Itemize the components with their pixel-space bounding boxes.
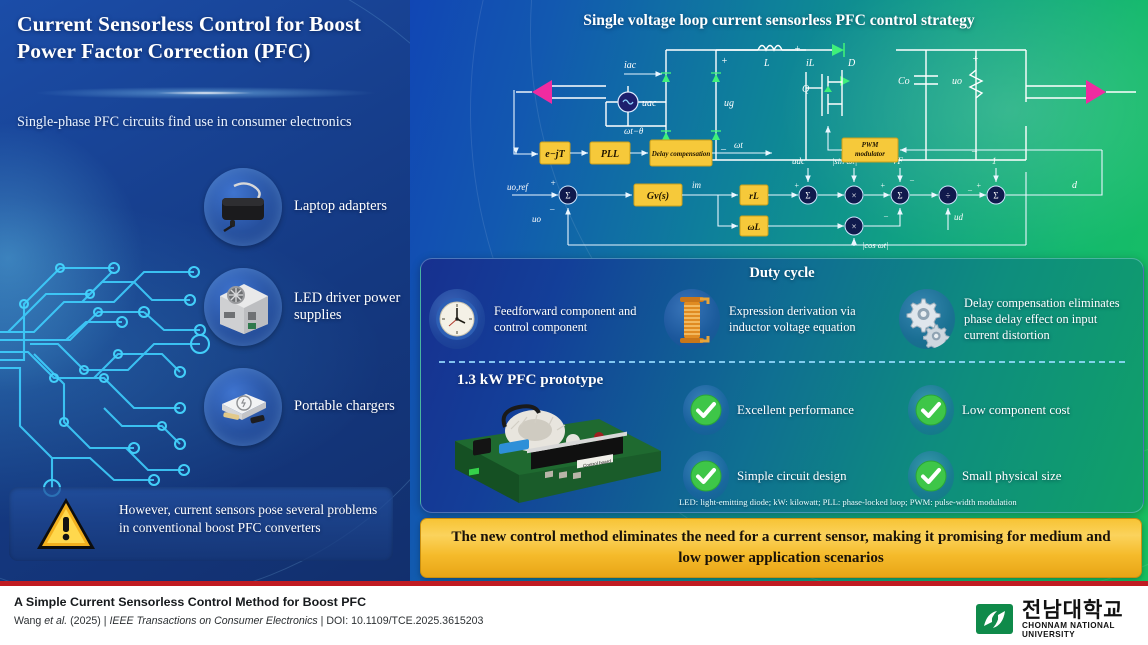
list-item-label: Laptop adapters — [294, 198, 387, 216]
citation-line: Wang et al. (2025) | IEEE Transactions o… — [14, 615, 483, 627]
footer: A Simple Current Sensorless Control Meth… — [0, 586, 1148, 645]
citation-year: (2025) — [70, 615, 101, 627]
citation-sep: | — [321, 615, 324, 627]
svg-text:–: – — [971, 146, 978, 157]
label-uo-out: uo — [952, 76, 962, 87]
label-ud: ud — [954, 212, 964, 222]
university-name-english: CHONNAM NATIONAL UNIVERSITY — [1022, 621, 1148, 639]
conclusion-text: The new control method eliminates the ne… — [443, 527, 1119, 568]
svg-text:+: + — [976, 181, 981, 190]
svg-text:PWM: PWM — [862, 141, 880, 149]
svg-text:–: – — [909, 175, 915, 184]
graphical-abstract: Current Sensorless Control for Boost Pow… — [0, 0, 1148, 645]
list-item: Excellent performance — [683, 377, 908, 443]
circuit-trace-artwork — [0, 212, 224, 502]
label-uac: uac — [642, 98, 657, 109]
block-rl-label: rL — [749, 192, 759, 202]
multiplier-1: × — [851, 191, 856, 201]
inductor-coil-icon — [664, 289, 720, 349]
check-icon — [908, 385, 954, 435]
university-name-korean: 전남대학교 — [1022, 599, 1148, 621]
duty-cycle-items: Feedforward component and control compon… — [429, 289, 1135, 349]
svg-text:+: + — [880, 181, 885, 190]
block-wl-label: ωL — [748, 223, 761, 233]
applications-list: Laptop adapters — [204, 168, 404, 468]
check-icon — [683, 385, 729, 435]
label-Q: Q — [802, 84, 810, 95]
label-L: L — [763, 58, 770, 69]
prototype-title: 1.3 kW PFC prototype — [457, 371, 603, 389]
pfc-control-diagram: iac uac L iL ug Q D Co uo +– +– + — [506, 30, 1146, 255]
svg-text:–: – — [549, 204, 555, 214]
list-item-label: Portable chargers — [294, 398, 395, 416]
list-item: Feedforward component and control compon… — [429, 289, 664, 349]
label-one: 1 — [992, 156, 997, 166]
sum-junction-3: Σ — [897, 191, 902, 201]
pfc-prototype-board-photo: Control board — [449, 397, 664, 505]
diagram-title: Single voltage loop current sensorless P… — [410, 12, 1148, 30]
led-driver-power-supply-icon — [204, 268, 282, 346]
label-iac: iac — [624, 60, 637, 71]
citation-doi[interactable]: DOI: 10.1109/TCE.2025.3615203 — [326, 615, 483, 627]
svg-text:–: – — [883, 211, 889, 220]
label-uo-fb: uo — [532, 214, 542, 224]
svg-text:+: + — [721, 56, 728, 67]
label-uoref: uo,ref — [507, 182, 529, 192]
list-item-label: Simple circuit design — [737, 469, 847, 484]
label-wt-theta: ωt−θ — [624, 126, 644, 136]
list-item: LED driver power supplies — [204, 268, 404, 346]
svg-text:+: + — [794, 44, 801, 55]
block-pll-label: PLL — [601, 149, 619, 160]
laptop-adapter-icon — [204, 168, 282, 246]
check-icon — [908, 451, 954, 501]
duty-cycle-card: Duty cycle — [420, 258, 1144, 513]
list-item-label: Expression derivation via inductor volta… — [729, 303, 899, 335]
title-glow-divider — [10, 86, 400, 100]
left-subtitle: Single-phase PFC circuits find use in co… — [17, 113, 382, 132]
university-logo: 전남대학교 CHONNAM NATIONAL UNIVERSITY — [975, 599, 1148, 639]
paper-title: A Simple Current Sensorless Control Meth… — [14, 595, 366, 609]
list-item-label: Feedforward component and control compon… — [494, 303, 664, 335]
block-delay-label: Delay compensation — [651, 150, 711, 158]
divider-node: ÷ — [946, 191, 951, 201]
warning-text: However, current sensors pose several pr… — [119, 501, 387, 536]
portable-charger-icon — [204, 368, 282, 446]
svg-text:+: + — [550, 178, 556, 188]
benefits-grid: Excellent performance Low component cost — [683, 377, 1133, 509]
citation-etal: et al. — [44, 615, 67, 627]
label-iL: iL — [806, 58, 815, 69]
gears-icon — [899, 289, 955, 349]
benefits-row: Excellent performance Low component cost — [683, 377, 1133, 443]
multiplier-2: × — [851, 222, 856, 232]
list-item: Low component cost — [908, 377, 1133, 443]
citation-authors: Wang — [14, 615, 41, 627]
list-item-label: Low component cost — [962, 403, 1070, 418]
check-icon — [683, 451, 729, 501]
label-D: D — [847, 58, 856, 69]
left-panel: Current Sensorless Control for Boost Pow… — [0, 0, 410, 586]
svg-text:modulator: modulator — [855, 150, 885, 158]
warning-box: However, current sensors pose several pr… — [9, 487, 393, 561]
block-gv-label: Gv(s) — [647, 191, 669, 202]
conclusion-banner: The new control method eliminates the ne… — [420, 518, 1142, 578]
list-item: Delay compensation eliminates phase dela… — [899, 289, 1134, 349]
sum-junction-2: Σ — [805, 191, 810, 201]
sum-junction-1: Σ — [565, 191, 570, 201]
abbreviations-note: LED: light-emitting diode; kW: kilowatt;… — [679, 497, 1141, 507]
list-item-label: Delay compensation eliminates phase dela… — [964, 295, 1134, 343]
page-title: Current Sensorless Control for Boost Pow… — [17, 11, 397, 65]
label-Co: Co — [898, 76, 910, 87]
label-cos: |cos ωt| — [862, 240, 889, 250]
list-item: Expression derivation via inductor volta… — [664, 289, 899, 349]
list-item-label: Small physical size — [962, 469, 1062, 484]
right-panel: Single voltage loop current sensorless P… — [410, 0, 1148, 586]
citation-sep: | — [104, 615, 107, 627]
warning-triangle-icon — [35, 495, 97, 558]
svg-text:+: + — [794, 181, 799, 190]
clock-icon — [429, 289, 485, 349]
citation-journal: IEEE Transactions on Consumer Electronic… — [109, 615, 317, 627]
label-d: d — [1072, 180, 1078, 191]
list-item-label: LED driver power supplies — [294, 290, 404, 325]
list-item-label: Excellent performance — [737, 403, 854, 418]
list-item: Laptop adapters — [204, 168, 404, 246]
list-item: Portable chargers — [204, 368, 404, 446]
block-exp-label: e−jT — [545, 149, 565, 160]
label-udc: udc — [792, 156, 805, 166]
label-wt: ωt — [734, 140, 743, 150]
poster-body: Current Sensorless Control for Boost Pow… — [0, 0, 1148, 586]
label-im: im — [692, 180, 702, 190]
svg-text:–: – — [967, 185, 973, 194]
label-ug: ug — [724, 98, 734, 109]
divider-dashed — [439, 361, 1125, 363]
chonnam-emblem-icon — [975, 602, 1015, 636]
svg-text:+: + — [972, 54, 979, 65]
sum-junction-4: Σ — [993, 191, 998, 201]
duty-cycle-title: Duty cycle — [421, 265, 1143, 282]
